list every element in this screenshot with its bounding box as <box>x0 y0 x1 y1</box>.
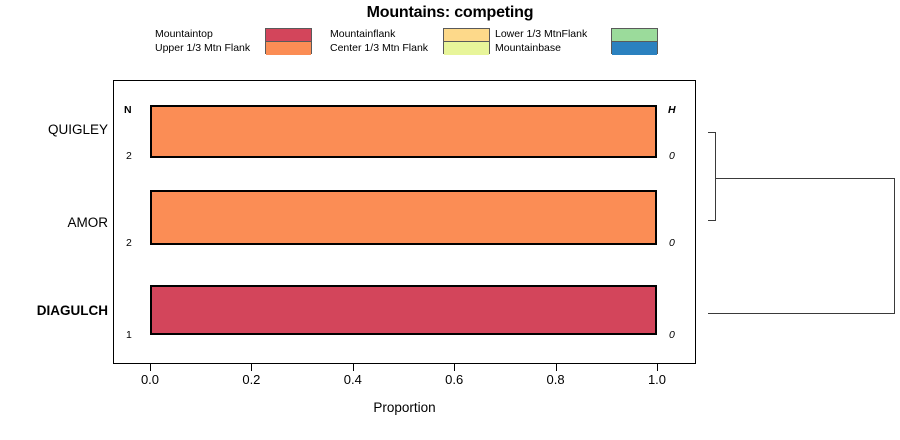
row-count-h: 0 <box>669 329 675 341</box>
legend-swatch-group <box>265 28 312 54</box>
legend-labels: Mountainflank Center 1/3 Mtn Flank <box>330 27 428 55</box>
legend-swatch-lower-third <box>612 29 657 42</box>
legend-column-2: Mountainflank Center 1/3 Mtn Flank <box>330 27 498 55</box>
legend-swatch-upper-third <box>266 42 311 55</box>
x-axis-tick <box>657 364 658 371</box>
dendrogram-merge-2-vertical <box>894 178 895 314</box>
x-axis-title: Proportion <box>113 400 696 415</box>
legend-label: Mountaintop <box>155 27 250 41</box>
bar-segment <box>150 190 657 245</box>
legend-swatch-center-third <box>444 42 489 55</box>
bar-segment <box>150 105 657 158</box>
legend-label: Mountainbase <box>495 41 587 55</box>
dendrogram-merge-1-vertical <box>715 132 716 221</box>
row-count-h: 0 <box>669 237 675 249</box>
legend-swatch-mountainflank <box>444 29 489 42</box>
chart-root: Mountains: competing Mountaintop Upper 1… <box>0 0 900 440</box>
y-axis-category-label: AMOR <box>0 215 108 230</box>
x-axis-tick-label: 0.0 <box>128 372 172 387</box>
legend-swatch-mountainbase <box>612 42 657 55</box>
legend-swatch-group <box>443 28 490 54</box>
legend: Mountaintop Upper 1/3 Mtn Flank Mountain… <box>155 27 675 55</box>
column-header-h: H <box>668 104 676 116</box>
legend-label: Upper 1/3 Mtn Flank <box>155 41 250 55</box>
x-axis-tick <box>150 364 151 371</box>
x-axis-tick <box>454 364 455 371</box>
x-axis-tick-label: 0.6 <box>432 372 476 387</box>
x-axis-tick <box>353 364 354 371</box>
x-axis-tick-label: 0.4 <box>331 372 375 387</box>
x-axis-tick-label: 1.0 <box>635 372 679 387</box>
dendrogram-leaf-diagulch <box>708 313 895 314</box>
column-header-n: N <box>124 104 132 116</box>
y-axis-category-label: QUIGLEY <box>0 122 108 137</box>
y-axis-category-label: DIAGULCH <box>0 303 108 318</box>
legend-labels: Mountaintop Upper 1/3 Mtn Flank <box>155 27 250 55</box>
legend-label: Lower 1/3 MtnFlank <box>495 27 587 41</box>
legend-swatch-group <box>611 28 658 54</box>
legend-label: Center 1/3 Mtn Flank <box>330 41 428 55</box>
x-axis-tick <box>556 364 557 371</box>
legend-label: Mountainflank <box>330 27 428 41</box>
row-count-n: 2 <box>126 150 132 162</box>
legend-swatch-mountaintop <box>266 29 311 42</box>
page-title: Mountains: competing <box>0 4 900 22</box>
row-count-n: 1 <box>126 329 132 341</box>
x-axis-tick-label: 0.8 <box>534 372 578 387</box>
row-count-n: 2 <box>126 237 132 249</box>
x-axis-tick <box>251 364 252 371</box>
x-axis-tick-label: 0.2 <box>229 372 273 387</box>
dendrogram-merge-1-stem <box>715 178 895 179</box>
legend-column-3: Lower 1/3 MtnFlank Mountainbase <box>495 27 670 55</box>
row-count-h: 0 <box>669 150 675 162</box>
bar-segment <box>150 285 657 335</box>
legend-labels: Lower 1/3 MtnFlank Mountainbase <box>495 27 587 55</box>
legend-column-1: Mountaintop Upper 1/3 Mtn Flank <box>155 27 323 55</box>
dendrogram <box>700 80 900 364</box>
